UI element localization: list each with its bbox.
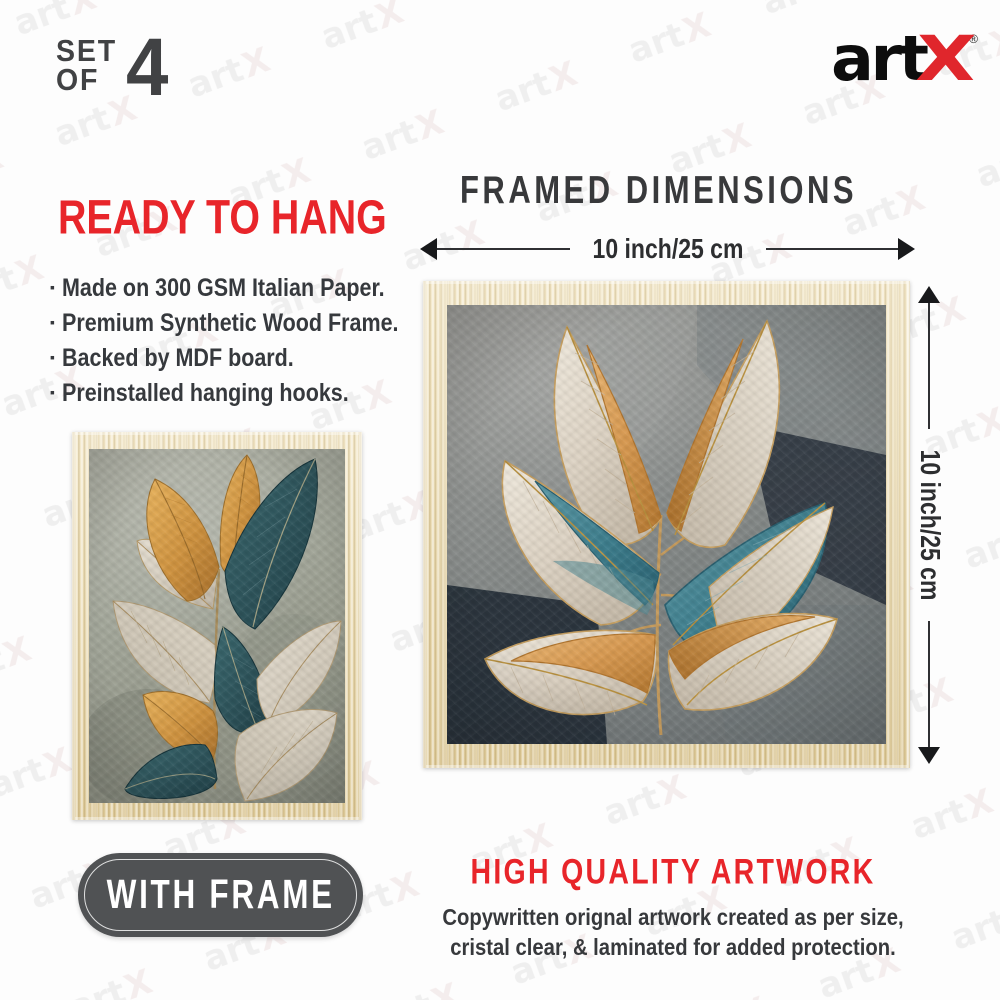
arrow-left-icon <box>420 238 437 260</box>
list-item: ▪ Backed by MDF board. <box>50 342 430 375</box>
bullet-icon: ▪ <box>50 385 55 399</box>
width-dimension-indicator: 10 inch/25 cm <box>420 232 915 266</box>
feature-label: Made on 300 GSM Italian Paper. <box>62 272 385 305</box>
dimension-line <box>437 248 570 250</box>
dimension-line <box>928 621 930 747</box>
main-artwork-canvas <box>447 305 886 744</box>
set-count: 4 <box>126 34 168 101</box>
feature-label: Premium Synthetic Wood Frame. <box>62 307 399 340</box>
main-square-frame <box>423 281 910 768</box>
dimension-line <box>766 248 899 250</box>
bullet-icon: ▪ <box>50 280 55 294</box>
bullet-icon: ▪ <box>50 350 55 364</box>
bullet-icon: ▪ <box>50 315 55 329</box>
logo-x-mark: X <box>915 28 977 90</box>
height-dimension-label: 10 inch/25 cm <box>913 437 945 614</box>
set-of-badge: SET OF 4 <box>56 32 172 99</box>
dimension-line <box>928 303 930 429</box>
ready-to-hang-heading: READY TO HANG <box>58 190 387 245</box>
height-dimension-indicator: 10 inch/25 cm <box>912 286 946 764</box>
left-artwork-canvas <box>89 449 345 803</box>
set-of-words: SET OF <box>56 37 122 94</box>
logo-art-text: art <box>831 28 926 90</box>
arrow-right-icon <box>898 238 915 260</box>
list-item: ▪ Premium Synthetic Wood Frame. <box>50 307 430 340</box>
brand-logo: art X ® <box>832 28 978 90</box>
feature-label: Backed by MDF board. <box>62 342 294 375</box>
feature-list: ▪ Made on 300 GSM Italian Paper. ▪ Premi… <box>50 272 430 412</box>
quality-description-line: cristal clear, & laminated for added pro… <box>440 933 906 963</box>
arrow-up-icon <box>918 286 940 303</box>
with-frame-badge: WITH FRAME <box>78 853 363 937</box>
list-item: ▪ Made on 300 GSM Italian Paper. <box>50 272 430 305</box>
arrow-down-icon <box>918 747 940 764</box>
with-frame-label: WITH FRAME <box>106 872 334 918</box>
width-dimension-label: 10 inch/25 cm <box>577 233 757 265</box>
high-quality-artwork-block: HIGH QUALITY ARTWORK Copywritten orignal… <box>408 856 938 963</box>
framed-dimensions-heading: FRAMED DIMENSIONS <box>460 168 857 213</box>
left-portrait-frame <box>72 432 362 820</box>
list-item: ▪ Preinstalled hanging hooks. <box>50 377 430 410</box>
main-artwork-leaves <box>447 305 886 744</box>
of-label: OF <box>56 66 117 95</box>
product-infographic-page: art X SET OF 4 art X ® READY TO HANG ▪ M… <box>0 0 1000 1000</box>
left-artwork-leaves <box>89 449 345 803</box>
feature-label: Preinstalled hanging hooks. <box>62 377 349 410</box>
quality-description-line: Copywritten orignal artwork created as p… <box>440 903 906 933</box>
quality-heading: HIGH QUALITY ARTWORK <box>421 853 925 892</box>
